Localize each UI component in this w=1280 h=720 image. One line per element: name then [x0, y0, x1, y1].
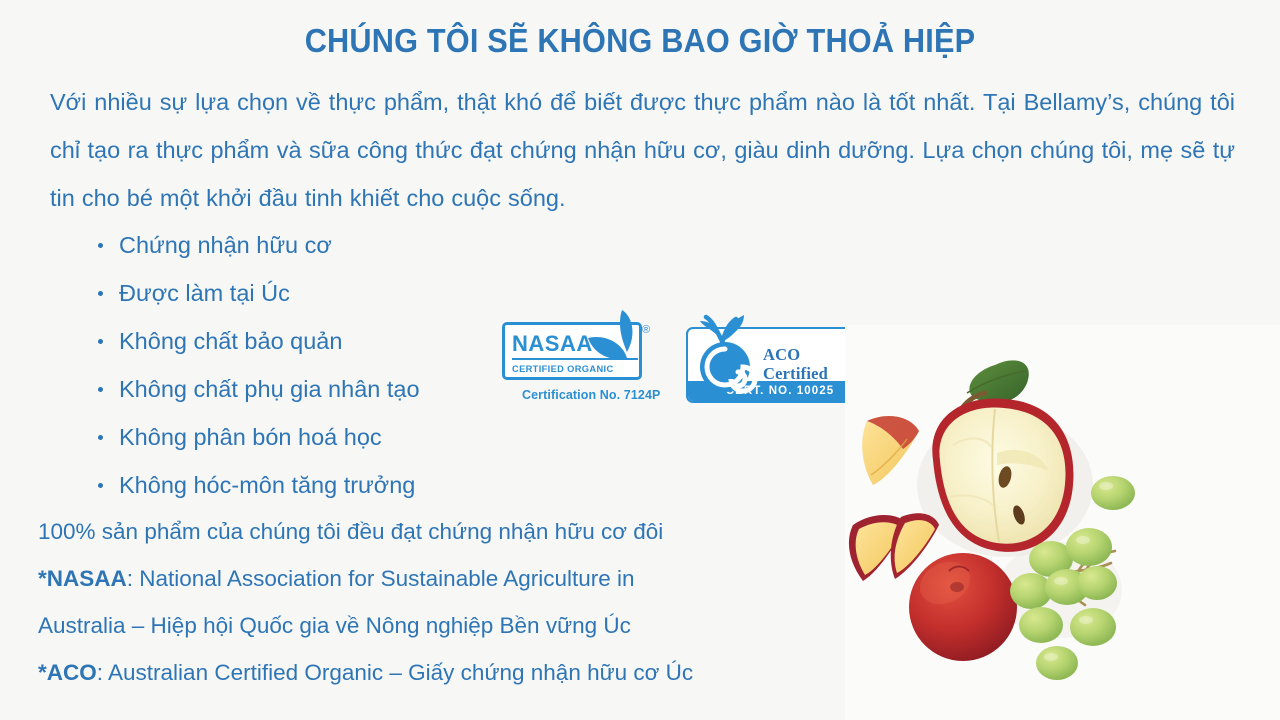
footnote-double-certified: 100% sản phẩm của chúng tôi đều đạt chứn…	[38, 508, 693, 555]
registered-trademark-icon: ®	[642, 324, 650, 336]
nasaa-certification-number: Certification No. 7124P	[522, 388, 660, 402]
footnotes: 100% sản phẩm của chúng tôi đều đạt chứn…	[38, 508, 693, 696]
intro-paragraph: Với nhiều sự lựa chọn về thực phẩm, thật…	[50, 78, 1235, 222]
benefits-list: Chứng nhận hữu cơ Được làm tại Úc Không …	[92, 221, 420, 509]
footnote-aco-text: : Australian Certified Organic – Giấy ch…	[97, 660, 693, 685]
footnote-aco-line: *ACO: Australian Certified Organic – Giấ…	[38, 649, 693, 696]
leaf-icon	[582, 308, 648, 380]
aco-line-1: ACO	[763, 346, 828, 365]
list-item: Không chất phụ gia nhân tạo	[92, 365, 420, 413]
list-item: Được làm tại Úc	[92, 269, 420, 317]
footnote-nasaa-line2: Australia – Hiệp hội Quốc gia về Nông ng…	[38, 602, 693, 649]
footnote-nasaa-text: : National Association for Sustainable A…	[127, 566, 635, 591]
fruit-photo	[845, 325, 1280, 720]
nasaa-certification-logo: NASAA CERTIFIED ORGANIC ® Certification …	[500, 320, 660, 416]
footnote-nasaa-line1: *NASAA: National Association for Sustain…	[38, 555, 693, 602]
list-item: Không hóc-môn tăng trưởng	[92, 461, 420, 509]
nasaa-wordmark: NASAA	[512, 330, 593, 357]
page-title: CHÚNG TÔI SẼ KHÔNG BAO GIỜ THOẢ HIỆP	[45, 22, 1235, 60]
footnote-aco-label: *ACO	[38, 660, 97, 685]
list-item: Không phân bón hoá học	[92, 413, 420, 461]
list-item: Không chất bảo quản	[92, 317, 420, 365]
slide-canvas: CHÚNG TÔI SẼ KHÔNG BAO GIỜ THOẢ HIỆP Với…	[0, 0, 1280, 720]
list-item: Chứng nhận hữu cơ	[92, 221, 420, 269]
footnote-nasaa-label: *NASAA	[38, 566, 127, 591]
aco-spiral-sprout-icon	[692, 313, 764, 395]
